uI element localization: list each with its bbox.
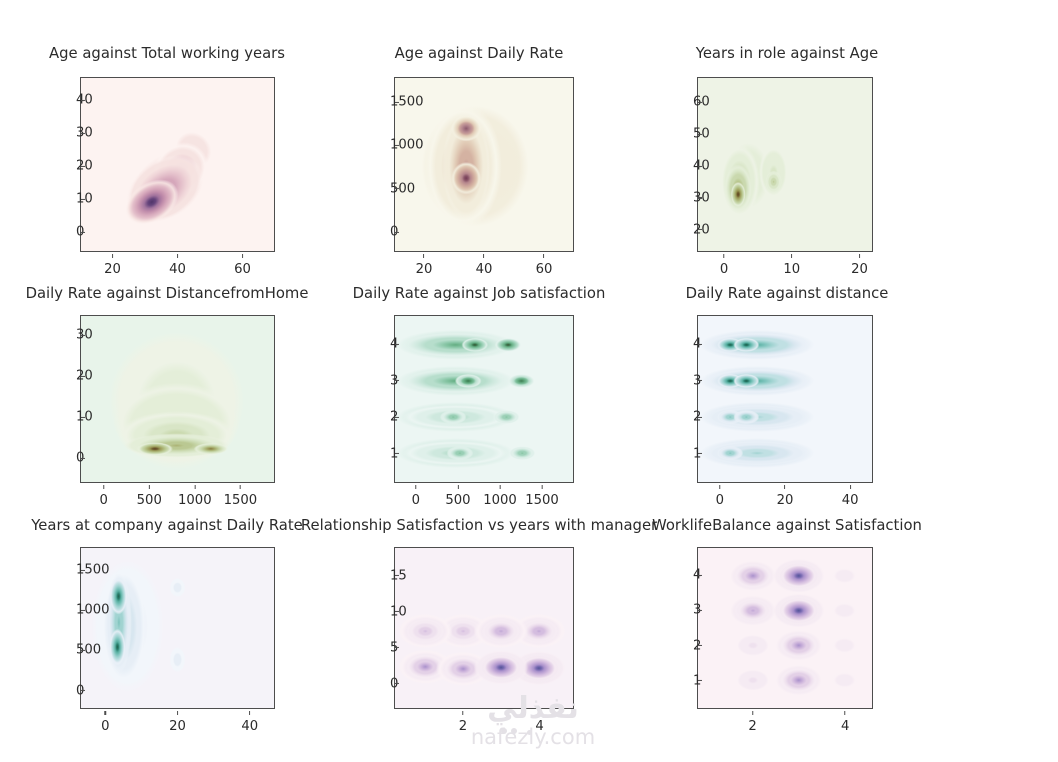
y-tick-mark [698, 610, 702, 611]
plot-area [697, 547, 873, 709]
x-tick-mark [845, 711, 846, 715]
y-tick-mark [698, 645, 702, 646]
panel-title: WorklifeBalance against Satisfaction [652, 517, 922, 535]
x-tick-label: 2 [748, 719, 756, 734]
y-tick-mark [698, 680, 702, 681]
kde-plot-grid: Age against Total working years010203040… [0, 0, 1058, 762]
x-tick-label: 4 [841, 719, 849, 734]
x-tick-mark [752, 711, 753, 715]
y-tick-mark [698, 575, 702, 576]
kde-density-surface [698, 548, 872, 708]
panel-worklife-balance-vs-satisfaction: WorklifeBalance against Satisfaction1234… [0, 0, 1058, 762]
